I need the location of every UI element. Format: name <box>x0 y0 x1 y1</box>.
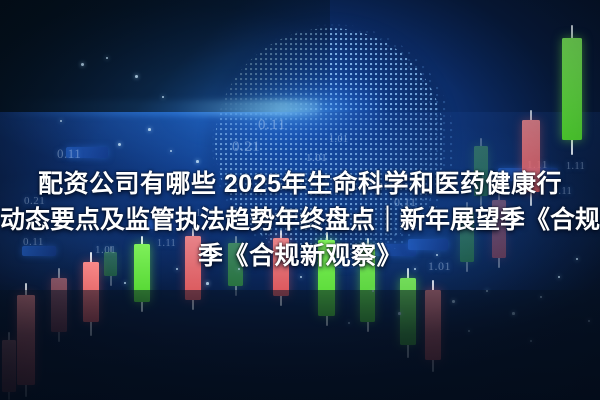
background-bottom-band <box>0 290 600 400</box>
sparkle-particle <box>206 282 209 285</box>
headline-line-3: 季《合规新观察》 <box>0 238 600 274</box>
sparkle-particle <box>196 160 199 163</box>
candle-body <box>562 38 582 140</box>
headline-line-2: 动态要点及监管执法趋势年终盘点｜新年展望季《合规 <box>0 202 600 238</box>
sparkle-particle <box>118 143 121 146</box>
background-dark-corner <box>0 0 330 112</box>
sparkle-particle <box>148 128 151 131</box>
banner-image: 0.110.110.211.011.010.111.111.111.110.11… <box>0 0 600 400</box>
candlestick-up <box>562 25 582 155</box>
headline-text: 配资公司有哪些 2025年生命科学和医药健康行 动态要点及监管执法趋势年终盘点｜… <box>0 166 600 274</box>
sparkle-particle <box>135 75 138 78</box>
headline-line-1: 配资公司有哪些 2025年生命科学和医药健康行 <box>0 166 600 202</box>
data-chip <box>66 147 108 158</box>
